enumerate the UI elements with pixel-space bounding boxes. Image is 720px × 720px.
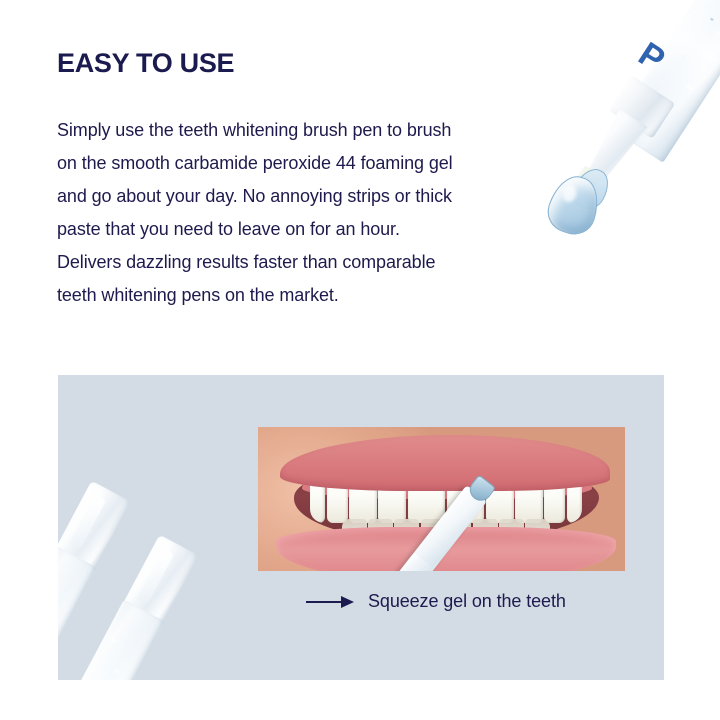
pen-hero-illustration: P: [520, 0, 720, 255]
product-feature-page: EASY TO USE Simply use the teeth whiteni…: [0, 0, 720, 720]
right-arrow-icon: [306, 596, 354, 608]
description-line-5: Delivers dazzling results faster than co…: [57, 246, 509, 279]
page-title: EASY TO USE: [57, 49, 234, 79]
description-paragraph: Simply use the teeth whitening brush pen…: [57, 114, 509, 312]
description-line-3: and go about your day. No annoying strip…: [57, 180, 509, 213]
instruction-panel: BRIGL WHITENING BR WHITENING: [58, 375, 664, 680]
teeth-application-photo: [258, 427, 625, 571]
pen-hero-image: P: [520, 0, 720, 255]
description-line-2: on the smooth carbamide peroxide 44 foam…: [57, 147, 509, 180]
caption-text: Squeeze gel on the teeth: [368, 591, 566, 612]
description-line-6: teeth whitening pens on the market.: [57, 279, 509, 312]
description-line-1: Simply use the teeth whitening brush pen…: [57, 114, 509, 147]
instruction-caption: Squeeze gel on the teeth: [306, 591, 566, 612]
description-line-4: paste that you need to leave on for an h…: [57, 213, 509, 246]
